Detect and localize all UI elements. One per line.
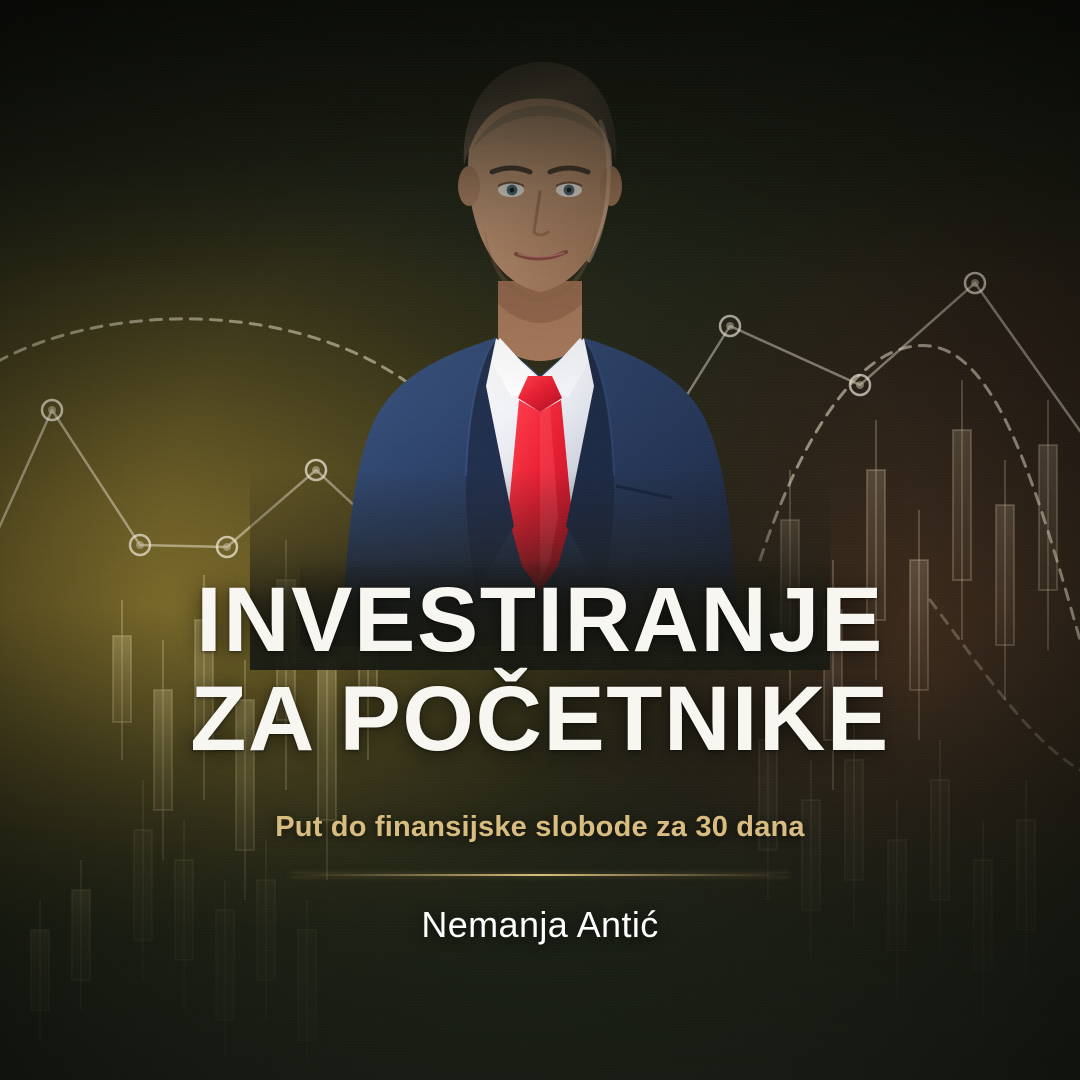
poster-title-line-1: INVESTIRANJE (0, 575, 1080, 665)
poster-canvas: INVESTIRANJE ZA POČETNIKE Put do finansi… (0, 0, 1080, 1080)
poster-text-block: INVESTIRANJE ZA POČETNIKE Put do finansi… (0, 575, 1080, 946)
gold-divider-line (290, 874, 790, 876)
poster-title-line-2: ZA POČETNIKE (0, 673, 1080, 767)
poster-subtitle: Put do finansijske slobode za 30 dana (0, 811, 1080, 844)
poster-author-name: Nemanja Antić (0, 904, 1080, 946)
